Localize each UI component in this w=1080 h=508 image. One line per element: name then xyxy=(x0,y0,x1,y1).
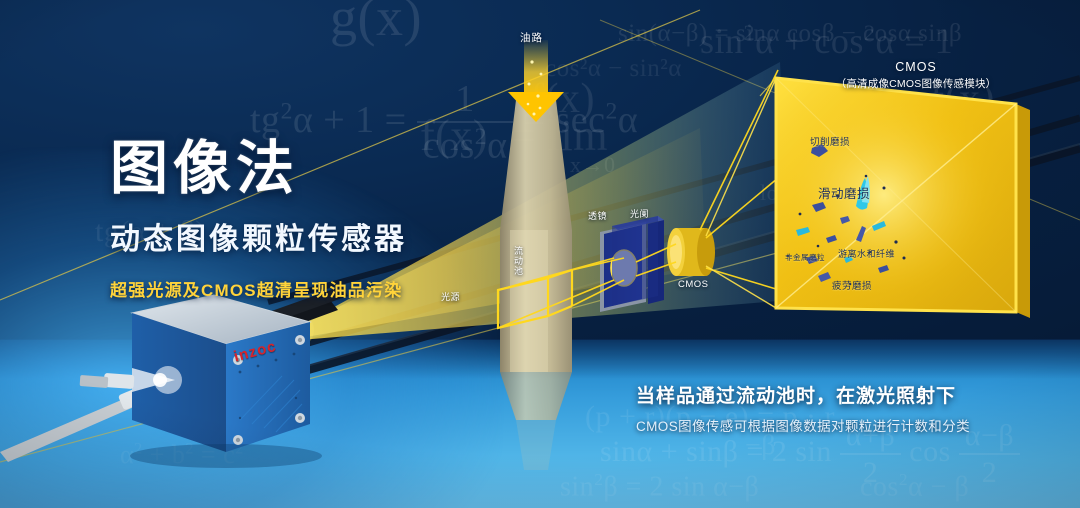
particle-label-nonmetal-particles: 非金属磨粒 xyxy=(785,252,825,263)
hero-banner: g(x) sin2α + cos2α = 1 tg2α + 1 = 1cos2α… xyxy=(0,0,1080,508)
caption-block: 当样品通过流动池时，在激光照射下 CMOS图像传感可根据图像数据对颗粒进行计数和… xyxy=(636,381,970,435)
hero-text-block: 图像法 动态图像颗粒传感器 超强光源及CMOS超清呈现油品污染 xyxy=(110,140,407,301)
page-title: 图像法 xyxy=(110,140,407,198)
label-cmos-sensor: CMOS xyxy=(678,279,709,290)
page-subtitle: 动态图像颗粒传感器 xyxy=(110,214,407,258)
cmos-panel-title: CMOS xyxy=(816,60,1016,74)
cmos-panel-heading: CMOS （高清成像CMOS图像传感模块） xyxy=(816,60,1016,91)
particle-label-fatigue-wear: 疲劳磨损 xyxy=(832,278,872,292)
caption-headline: 当样品通过流动池时，在激光照射下 xyxy=(636,381,970,408)
particle-label-cutting-wear: 切削磨损 xyxy=(810,134,850,148)
label-oil-path: 油路 xyxy=(520,30,543,45)
page-tagline: 超强光源及CMOS超清呈现油品污染 xyxy=(110,276,407,301)
label-lens: 透镜 xyxy=(588,209,607,222)
label-flow-cell: 流动池 xyxy=(512,246,525,276)
particle-label-sliding-wear: 滑动磨损 xyxy=(818,183,870,202)
label-aperture: 光阑 xyxy=(630,207,649,220)
label-light-source: 光源 xyxy=(441,290,460,303)
caption-detail: CMOS图像传感可根据图像数据对颗粒进行计数和分类 xyxy=(636,415,970,435)
particle-label-free-water-fiber: 游离水和纤维 xyxy=(838,247,895,260)
cmos-panel-subtitle: （高清成像CMOS图像传感模块） xyxy=(816,76,1016,91)
